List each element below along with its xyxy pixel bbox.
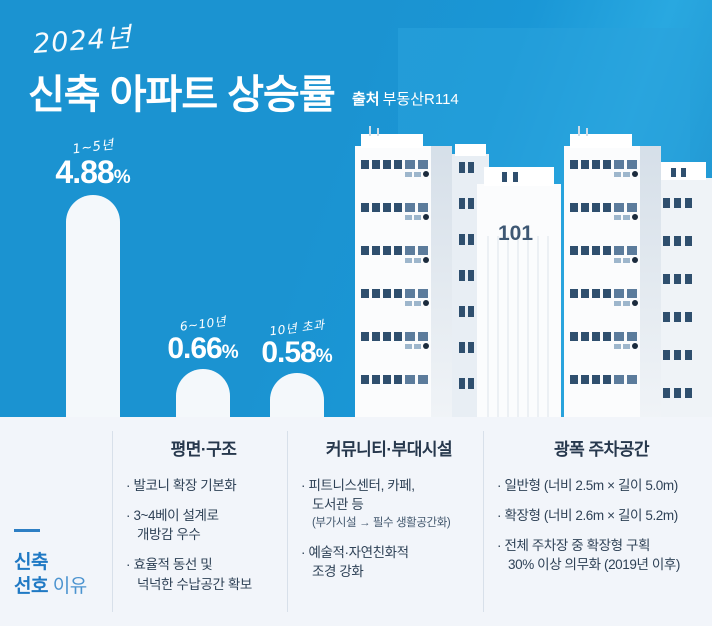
bar-chart: 1~5년 4.88% 6~10년 0.66% 10년 초과 0.58% — [0, 0, 360, 417]
bar-shape-1 — [66, 195, 120, 417]
bullet-text-cont: 조경 강화 — [308, 562, 477, 581]
column-heading-3: 광폭 주차공간 — [497, 435, 706, 460]
source-name: 부동산R114 — [383, 91, 459, 108]
bullet-text: · 일반형 (너비 2.5m × 길이 5.0m) — [497, 478, 678, 493]
side-label-line1: 신축 — [14, 547, 48, 574]
panel-side-label: 신축 선호 이유 — [0, 417, 112, 626]
bar-value-label-3: 0.58% — [244, 337, 350, 369]
bullet-text: · 3~4베이 설계로 — [126, 508, 219, 523]
list-item: · 일반형 (너비 2.5m × 길이 5.0m) — [497, 476, 706, 495]
bullet-text: · 효율적 동선 및 — [126, 557, 212, 572]
bullet-text-cont: 개방감 우수 — [133, 525, 281, 544]
reasons-panel: 신축 선호 이유 평면·구조 · 발코니 확장 기본화 · 3~4베이 설계로개… — [0, 417, 712, 626]
hero-section: 101 2024년 신축 아파트 상승률 출처부동산R114 1~5년 4.88… — [0, 0, 712, 417]
bar-value-label-2: 0.66% — [150, 333, 256, 365]
bullet-text: · 확장형 (너비 2.6m × 길이 5.2m) — [497, 508, 678, 523]
reasons-columns: 신축 선호 이유 평면·구조 · 발코니 확장 기본화 · 3~4베이 설계로개… — [0, 417, 712, 626]
bullet-subtext: (부가시설 → 필수 생활공간화) — [308, 515, 477, 531]
column-heading-2: 커뮤니티·부대시설 — [301, 435, 477, 460]
bar-value-number-3: 0.58 — [261, 336, 315, 369]
column-1-bullet-list: · 발코니 확장 기본화 · 3~4베이 설계로개방감 우수 · 효율적 동선 … — [126, 476, 281, 594]
bullet-text: · 발코니 확장 기본화 — [126, 478, 236, 493]
list-item: · 확장형 (너비 2.6m × 길이 5.2m) — [497, 506, 706, 525]
bar-value-unit-1: % — [114, 167, 131, 188]
bar-value-unit-2: % — [222, 342, 239, 363]
column-3-bullet-list: · 일반형 (너비 2.5m × 길이 5.0m) · 확장형 (너비 2.6m… — [497, 476, 706, 575]
bar-group-2: 6~10년 0.66% — [150, 315, 256, 418]
bar-value-number-2: 0.66 — [167, 332, 221, 365]
apartment-buildings-illustration: 101 — [355, 126, 712, 417]
bullet-text-cont: 30% 이상 의무화 (2019년 이후) — [504, 555, 706, 574]
side-label-line2: 선호 이유 — [14, 571, 87, 598]
source-attribution: 출처부동산R114 — [352, 88, 459, 109]
bar-shape-2 — [176, 369, 230, 417]
bar-group-1: 1~5년 4.88% — [40, 136, 146, 417]
column-heading-1: 평면·구조 — [126, 435, 281, 460]
bar-value-unit-3: % — [316, 346, 333, 367]
bullet-text: · 전체 주차장 중 확장형 구획 — [497, 538, 650, 553]
list-item: · 전체 주차장 중 확장형 구획30% 이상 의무화 (2019년 이후) — [497, 536, 706, 574]
bullet-text-cont: 넉넉한 수납공간 확보 — [133, 575, 281, 594]
bar-group-3: 10년 초과 0.58% — [244, 319, 350, 418]
reason-column-wide-parking: 광폭 주차공간 · 일반형 (너비 2.5m × 길이 5.0m) · 확장형 … — [483, 417, 712, 626]
list-item: · 예술적·자연친화적조경 강화 — [301, 543, 477, 581]
bullet-text: · 피트니스센터, 카페, — [301, 478, 415, 493]
house-roof-shape — [398, 28, 690, 124]
side-label-dash-icon — [14, 529, 40, 532]
column-2-bullet-list: · 피트니스센터, 카페,도서관 등(부가시설 → 필수 생활공간화) · 예술… — [301, 476, 477, 581]
bar-shape-3 — [270, 373, 324, 417]
bar-value-label-1: 4.88% — [40, 156, 146, 190]
building-number-label: 101 — [498, 222, 533, 246]
bullet-text-cont: 도서관 등 — [308, 495, 477, 514]
bullet-text: · 예술적·자연친화적 — [301, 545, 409, 560]
bar-value-number-1: 4.88 — [55, 154, 113, 190]
infographic-page: 101 2024년 신축 아파트 상승률 출처부동산R114 1~5년 4.88… — [0, 0, 712, 626]
side-label-line2-light: 이유 — [53, 576, 87, 597]
side-label-line2-strong: 선호 — [14, 576, 48, 597]
list-item: · 피트니스센터, 카페,도서관 등(부가시설 → 필수 생활공간화) — [301, 476, 477, 532]
list-item: · 3~4베이 설계로개방감 우수 — [126, 506, 281, 544]
list-item: · 효율적 동선 및넉넉한 수납공간 확보 — [126, 555, 281, 593]
buildings-svg — [355, 126, 712, 417]
reason-column-plan-structure: 평면·구조 · 발코니 확장 기본화 · 3~4베이 설계로개방감 우수 · 효… — [112, 417, 287, 626]
reason-column-community-facilities: 커뮤니티·부대시설 · 피트니스센터, 카페,도서관 등(부가시설 → 필수 생… — [287, 417, 483, 626]
list-item: · 발코니 확장 기본화 — [126, 476, 281, 495]
